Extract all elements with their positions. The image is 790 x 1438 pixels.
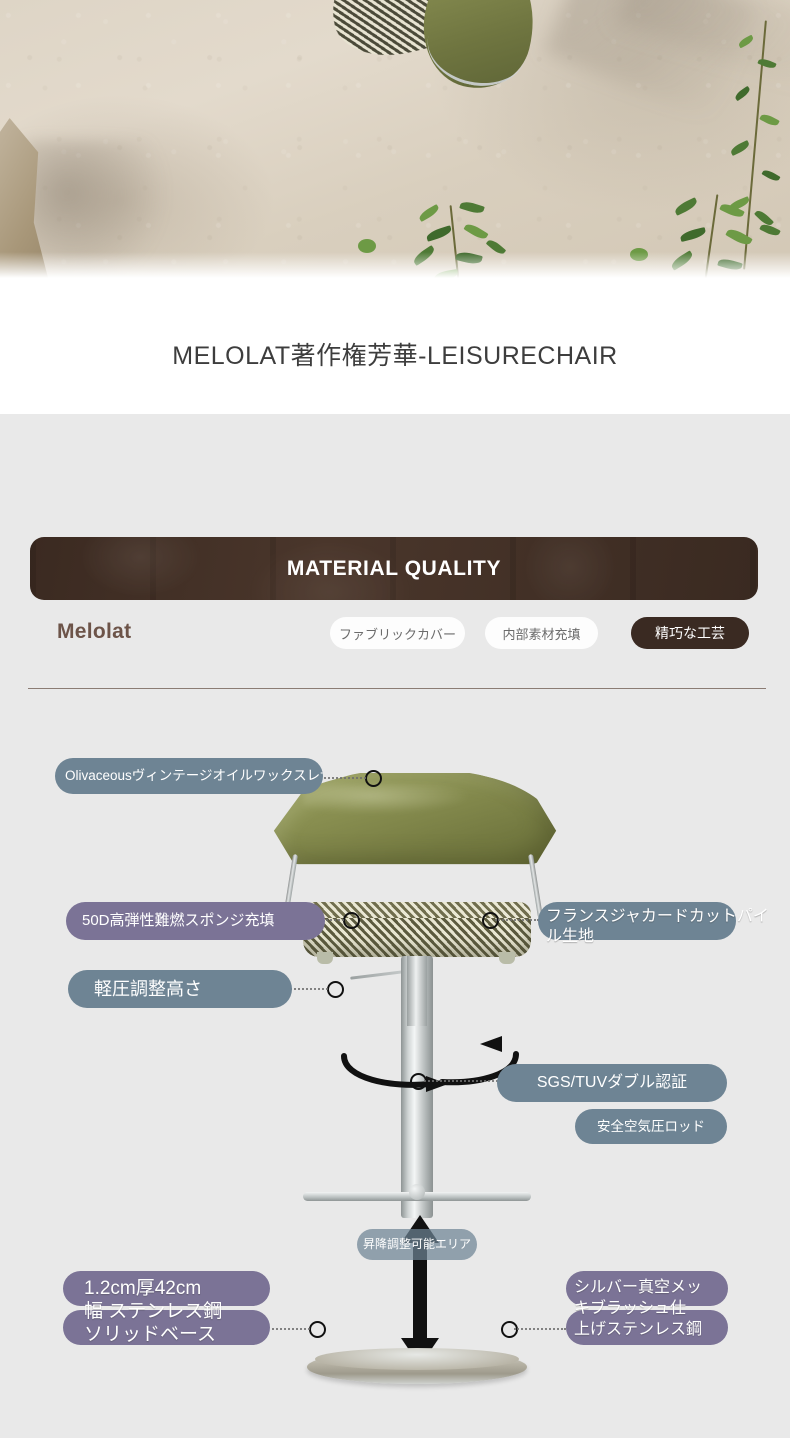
marker-height-adjust: [327, 981, 344, 998]
chair-base-top: [315, 1348, 519, 1370]
callout-leather-text: Olivaceousヴィンテージオイルワックスレザー: [65, 768, 323, 784]
brand-name: Melolat: [57, 620, 131, 644]
leader-certification: [424, 1080, 498, 1082]
tab-internal-filling[interactable]: 内部素材充填: [485, 617, 598, 649]
material-quality-banner: MATERIAL QUALITY: [30, 537, 758, 600]
callout-height-adjust-text: 軽圧調整高さ: [94, 979, 202, 1000]
footrest-joint: [409, 1184, 425, 1200]
callout-silver-line2: キブラッシュ仕: [574, 1300, 686, 1319]
hero-bottom-fade: [0, 252, 790, 278]
callout-jacquard-line1: フランスジャカードカットパイ: [546, 908, 769, 927]
page-title: MELOLAT著作権芳華-LEISURECHAIR: [0, 336, 790, 372]
tab-fabric-cover[interactable]: ファブリックカバー: [330, 617, 465, 649]
seat-foot-left: [317, 952, 333, 964]
callout-sponge: 50D高弾性難燃スポンジ充填: [66, 902, 325, 940]
callout-silver-line3: 上げステンレス鋼: [574, 1321, 702, 1340]
callout-sponge-text: 50D高弾性難燃スポンジ充填: [82, 912, 275, 929]
callout-gas-rod-text: 安全空気圧ロッド: [597, 1119, 705, 1135]
gas-lift-inner-rod: [407, 956, 427, 1026]
hero-image: [0, 0, 790, 278]
seat-foot-right: [499, 952, 515, 964]
tab-craftsmanship[interactable]: 精巧な工芸: [631, 617, 749, 649]
section-divider: [28, 688, 766, 689]
callout-lift-area-text: 昇降調整可能エリア: [363, 1238, 471, 1252]
marker-base-left: [309, 1321, 326, 1338]
callout-lift-area: 昇降調整可能エリア: [357, 1229, 477, 1260]
callout-certification-text: SGS/TUVダブル認証: [537, 1074, 687, 1092]
leader-base-right: [514, 1328, 566, 1330]
callout-base-line3: ソリッドベース: [84, 1324, 216, 1346]
backrest-support-right: [528, 854, 543, 918]
callout-certification: SGS/TUVダブル認証: [497, 1064, 727, 1102]
marker-sponge: [343, 912, 360, 929]
callout-silver-line1: シルバー真空メッ: [574, 1279, 702, 1298]
callout-base-line2: 幅 ステンレス鋼: [84, 1301, 222, 1323]
banner-heading: MATERIAL QUALITY: [30, 537, 758, 600]
marker-leather: [365, 770, 382, 787]
product-detail-page: MELOLAT著作権芳華-LEISURECHAIR MATERIAL QUALI…: [0, 0, 790, 1438]
leader-jacquard: [495, 919, 539, 921]
callout-base-line1: 1.2cm厚42cm: [84, 1278, 201, 1300]
leader-base-left: [272, 1328, 310, 1330]
callout-leather: Olivaceousヴィンテージオイルワックスレザー: [55, 758, 323, 794]
callout-height-adjust: 軽圧調整高さ: [68, 970, 292, 1008]
callout-gas-rod: 安全空気圧ロッド: [575, 1109, 727, 1144]
backrest-highlight: [303, 784, 473, 814]
callout-jacquard-line2: ル生地: [546, 928, 594, 947]
